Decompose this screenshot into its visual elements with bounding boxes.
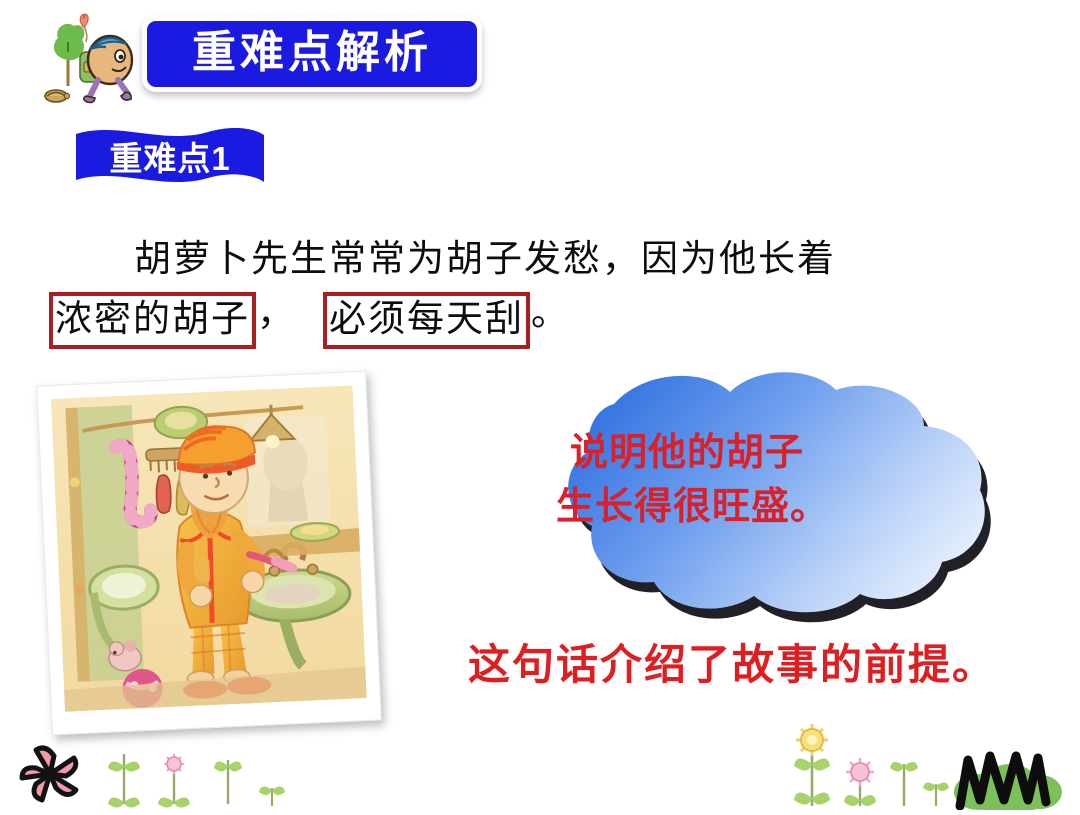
page-title-text: 重难点解析 — [192, 31, 432, 78]
flowers-and-grass-icon — [768, 722, 1076, 810]
cloud-callout-text: 说明他的胡子 生长得很旺盛。 — [570, 426, 970, 534]
page-title: 重难点解析 — [142, 16, 482, 92]
paragraph-period: 。 — [531, 291, 570, 334]
section-banner: 重难点1 — [62, 112, 278, 208]
conclusion-text: 这句话介绍了故事的前提。 — [468, 642, 996, 688]
paragraph-comma: ， — [257, 291, 296, 334]
story-illustration-frame — [36, 371, 382, 736]
cloud-callout: 说明他的胡子 生长得很旺盛。 — [494, 368, 1028, 626]
cloud-line-1: 说明他的胡子 — [570, 432, 804, 474]
highlight-box-dense-beard: 浓密的胡子 — [49, 292, 256, 349]
highlight-box-shave-daily: 必须每天刮 — [323, 292, 530, 349]
paragraph-line-1: 胡萝卜先生常常为胡子发愁，因为他长着 — [134, 237, 836, 280]
pink-flower-icon — [16, 742, 88, 808]
body-paragraph: 胡萝卜先生常常为胡子发愁，因为他长着浓密的胡子，必须每天刮。 — [48, 232, 1040, 349]
cloud-line-2: 生长得很旺盛。 — [556, 480, 970, 534]
green-sprouts-icon — [104, 752, 294, 810]
story-illustration — [51, 385, 367, 711]
mascot-character-icon — [34, 12, 146, 110]
